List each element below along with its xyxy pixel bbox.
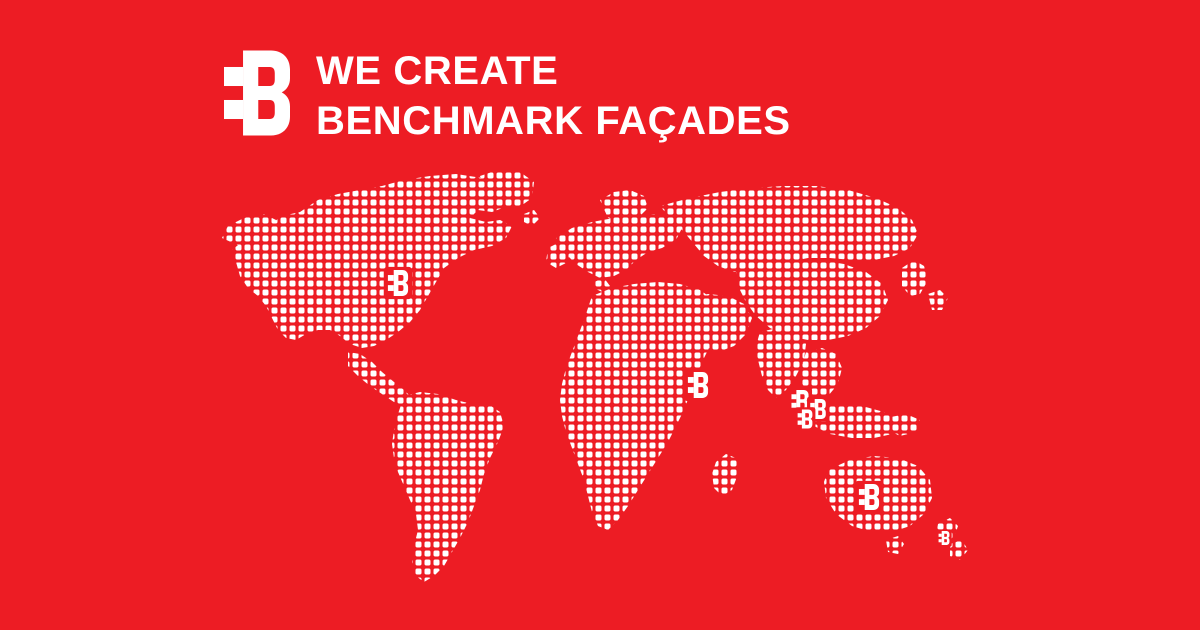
benchmark-b-logo-icon [224,44,290,142]
brand-lockup: WE CREATE BENCHMARK FAÇADES [224,44,791,146]
poster-canvas: WE CREATE BENCHMARK FAÇADES [0,0,1200,630]
tagline-line-2: BENCHMARK FAÇADES [316,96,791,146]
tagline-line-1: WE CREATE [316,46,791,96]
tagline: WE CREATE BENCHMARK FAÇADES [316,46,791,146]
